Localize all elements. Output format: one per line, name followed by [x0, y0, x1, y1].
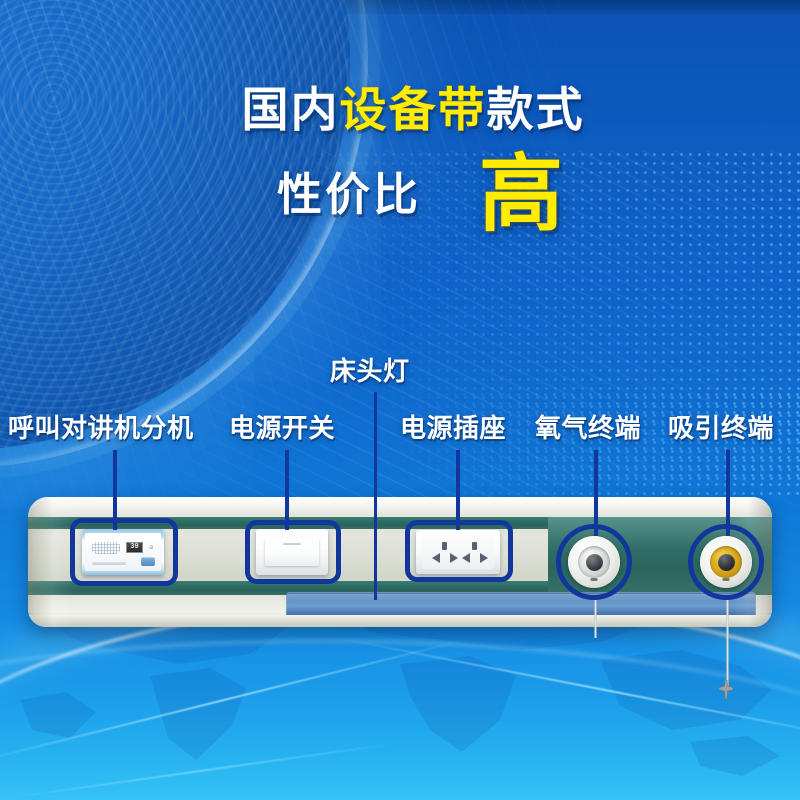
- leader-line-socket: [456, 450, 460, 530]
- product-banner: 国内设备带款式 性价比 高 39: [0, 0, 800, 800]
- callout-label-socket: 电源插座: [400, 415, 506, 441]
- leader-line-oxygen: [594, 450, 598, 536]
- callout-label-intercom: 呼叫对讲机分机: [8, 415, 194, 441]
- callout-label-oxygen: 氧气终端: [535, 415, 641, 441]
- leader-line-suction: [726, 450, 730, 536]
- leader-line-bedlamp: [374, 392, 377, 600]
- callout-label-group: 呼叫对讲机分机 电源开关 床头灯 电源插座 氧气终端 吸引终端: [0, 0, 800, 800]
- leader-line-intercom: [113, 450, 117, 530]
- callout-label-suction: 吸引终端: [668, 415, 774, 441]
- callout-label-bedlamp: 床头灯: [330, 358, 410, 384]
- callout-label-switch: 电源开关: [229, 415, 335, 441]
- leader-line-switch: [285, 450, 289, 530]
